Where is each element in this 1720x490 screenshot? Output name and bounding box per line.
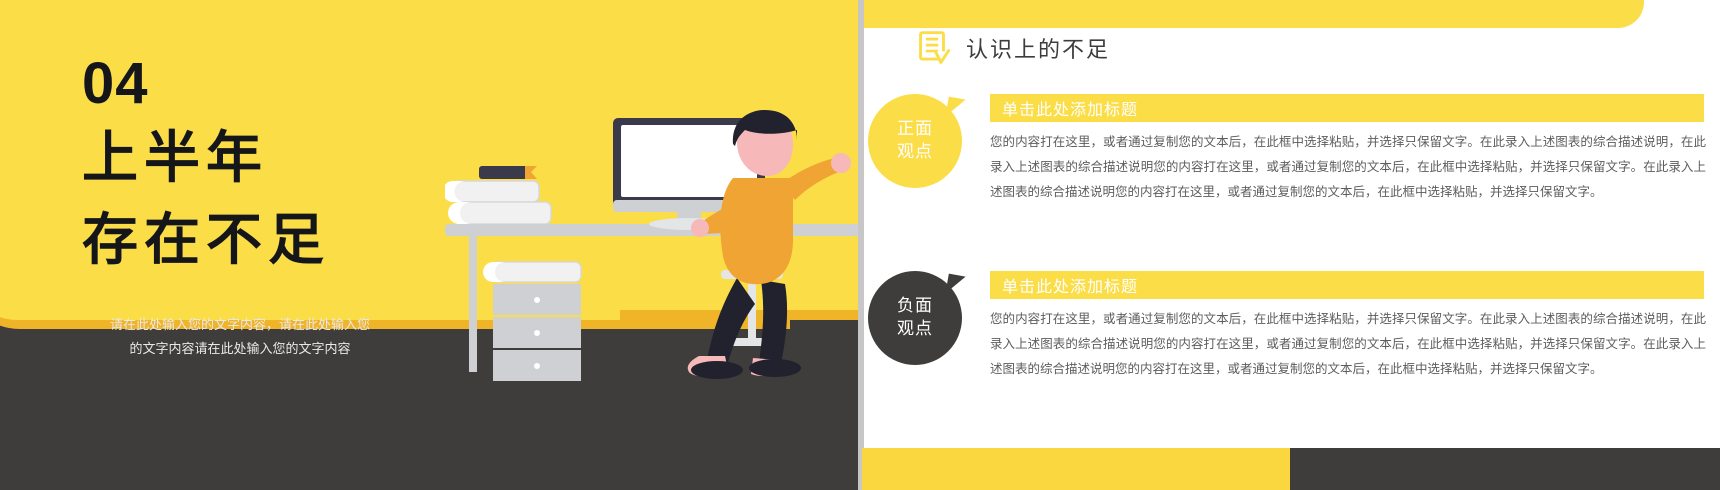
checklist-document-icon <box>918 31 952 65</box>
badge-label-line-2: 观点 <box>897 141 933 164</box>
block-body-negative[interactable]: 您的内容打在这里，或者通过复制您的文本后，在此框中选择粘贴，并选择只保留文字。在… <box>990 307 1706 382</box>
badge-label-line-1: 正面 <box>897 118 933 141</box>
slide-caption-line-2: 的文字内容请在此处输入您的文字内容 <box>40 337 440 361</box>
right-content-panel: 认识上的不足 正面 观点 单击此处添加标题 您的内容打在这里，或者通过复制您的文… <box>864 0 1720 490</box>
section-number: 04 <box>82 55 149 113</box>
block-title-positive[interactable]: 单击此处添加标题 <box>990 94 1704 122</box>
badge-label-line-2: 观点 <box>897 318 933 341</box>
desk-illustration <box>445 110 858 410</box>
badge-circle: 负面 观点 <box>868 271 962 365</box>
bottom-bar-dark <box>1290 448 1720 490</box>
badge-positive: 正面 观点 <box>868 94 966 192</box>
slide-caption-line-1: 请在此处输入您的文字内容，请在此处输入您 <box>40 313 440 337</box>
content-block-positive: 正面 观点 单击此处添加标题 您的内容打在这里，或者通过复制您的文本后，在此框中… <box>864 86 1720 226</box>
badge-label-line-1: 负面 <box>897 295 933 318</box>
block-body-positive[interactable]: 您的内容打在这里，或者通过复制您的文本后，在此框中选择粘贴，并选择只保留文字。在… <box>990 130 1706 205</box>
presentation-slide: 04 上半年 存在不足 请在此处输入您的文字内容，请在此处输入您 的文字内容请在… <box>0 0 1720 490</box>
badge-negative: 负面 观点 <box>868 271 966 369</box>
top-yellow-banner <box>864 0 1644 28</box>
left-title-panel: 04 上半年 存在不足 请在此处输入您的文字内容，请在此处输入您 的文字内容请在… <box>0 0 858 490</box>
block-title-negative[interactable]: 单击此处添加标题 <box>990 271 1704 299</box>
books-on-desk <box>445 166 551 224</box>
slide-caption: 请在此处输入您的文字内容，请在此处输入您 的文字内容请在此处输入您的文字内容 <box>40 313 440 361</box>
content-header-title: 认识上的不足 <box>966 32 1110 64</box>
filing-cabinet <box>483 262 581 381</box>
slide-title-line-2: 存在不足 <box>82 212 330 268</box>
bottom-bar-yellow <box>862 448 1290 490</box>
content-block-negative: 负面 观点 单击此处添加标题 您的内容打在这里，或者通过复制您的文本后，在此框中… <box>864 263 1720 403</box>
slide-title-line-1: 上半年 <box>82 130 268 186</box>
content-header: 认识上的不足 <box>864 26 1720 70</box>
badge-circle: 正面 观点 <box>868 94 962 188</box>
